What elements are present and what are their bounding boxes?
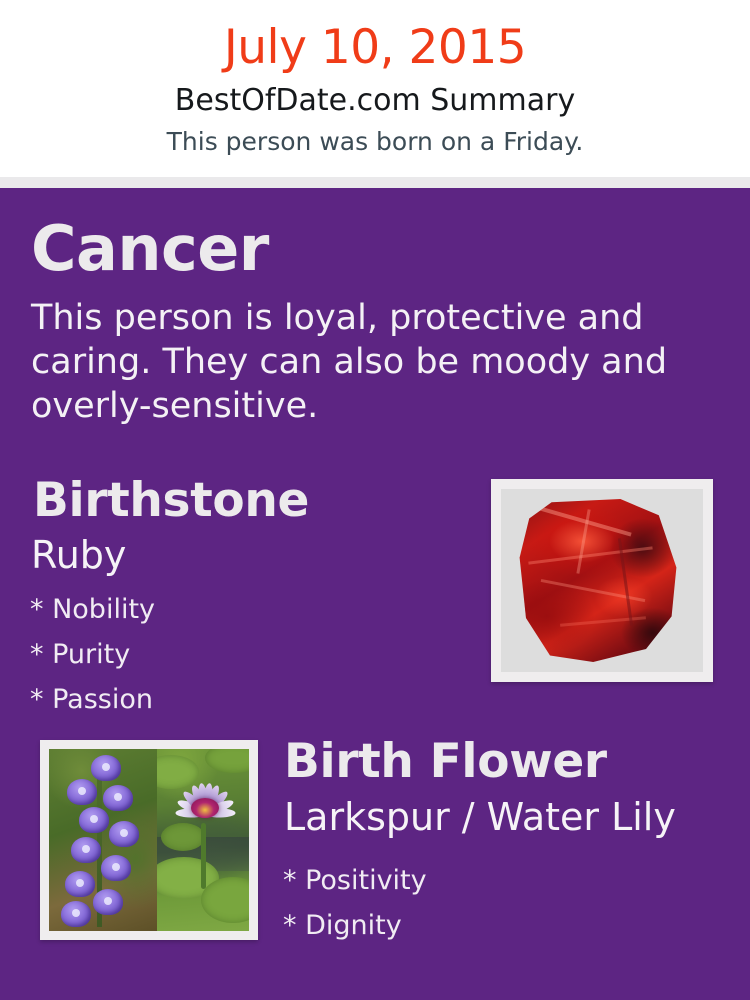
birthstone-heading: Birthstone xyxy=(33,477,309,524)
page-title-date: July 10, 2015 xyxy=(0,24,750,71)
larkspur-bloom-icon xyxy=(79,807,109,833)
larkspur-bloom-icon xyxy=(91,755,121,781)
birth-flower-name: Larkspur / Water Lily xyxy=(284,798,676,836)
list-item: * Passion xyxy=(30,677,450,722)
larkspur-bloom-icon xyxy=(71,837,101,863)
list-item: * Nobility xyxy=(30,587,450,632)
birth-flower-heading: Birth Flower xyxy=(284,738,607,785)
birthstone-name: Ruby xyxy=(31,536,126,574)
birthstone-photo-frame xyxy=(491,479,713,682)
larkspur-bloom-icon xyxy=(101,855,131,881)
page-header: July 10, 2015 BestOfDate.com Summary Thi… xyxy=(0,0,750,177)
larkspur-bloom-icon xyxy=(65,871,95,897)
birth-flower-photo xyxy=(49,749,249,931)
list-item: * Purity xyxy=(30,632,450,677)
water-lily-photo xyxy=(157,749,249,931)
water-lily-bloom-icon xyxy=(171,783,239,837)
list-item: * Dignity xyxy=(283,903,703,948)
ruby-crystal-icon xyxy=(518,499,678,662)
birthstone-trait-list: * Nobility * Purity * Passion xyxy=(30,587,450,722)
larkspur-bloom-icon xyxy=(103,785,133,811)
zodiac-description: This person is loyal, protective and car… xyxy=(31,296,671,428)
larkspur-bloom-icon xyxy=(109,821,139,847)
lily-pad-icon xyxy=(205,749,249,773)
lily-stamen-icon xyxy=(191,798,219,818)
larkspur-photo xyxy=(49,749,157,931)
born-day-note: This person was born on a Friday. xyxy=(0,129,750,154)
birthstone-photo xyxy=(501,489,703,672)
list-item: * Positivity xyxy=(283,858,703,903)
larkspur-bloom-icon xyxy=(93,889,123,915)
larkspur-bloom-icon xyxy=(61,901,91,927)
lily-pad-icon xyxy=(201,877,249,923)
birth-flower-photo-frame xyxy=(40,740,258,940)
header-divider xyxy=(0,177,750,188)
larkspur-bloom-icon xyxy=(67,779,97,805)
site-summary-label: BestOfDate.com Summary xyxy=(0,86,750,116)
birth-flower-trait-list: * Positivity * Dignity xyxy=(283,858,703,948)
summary-page: July 10, 2015 BestOfDate.com Summary Thi… xyxy=(0,0,750,1000)
zodiac-sign-title: Cancer xyxy=(31,218,269,280)
